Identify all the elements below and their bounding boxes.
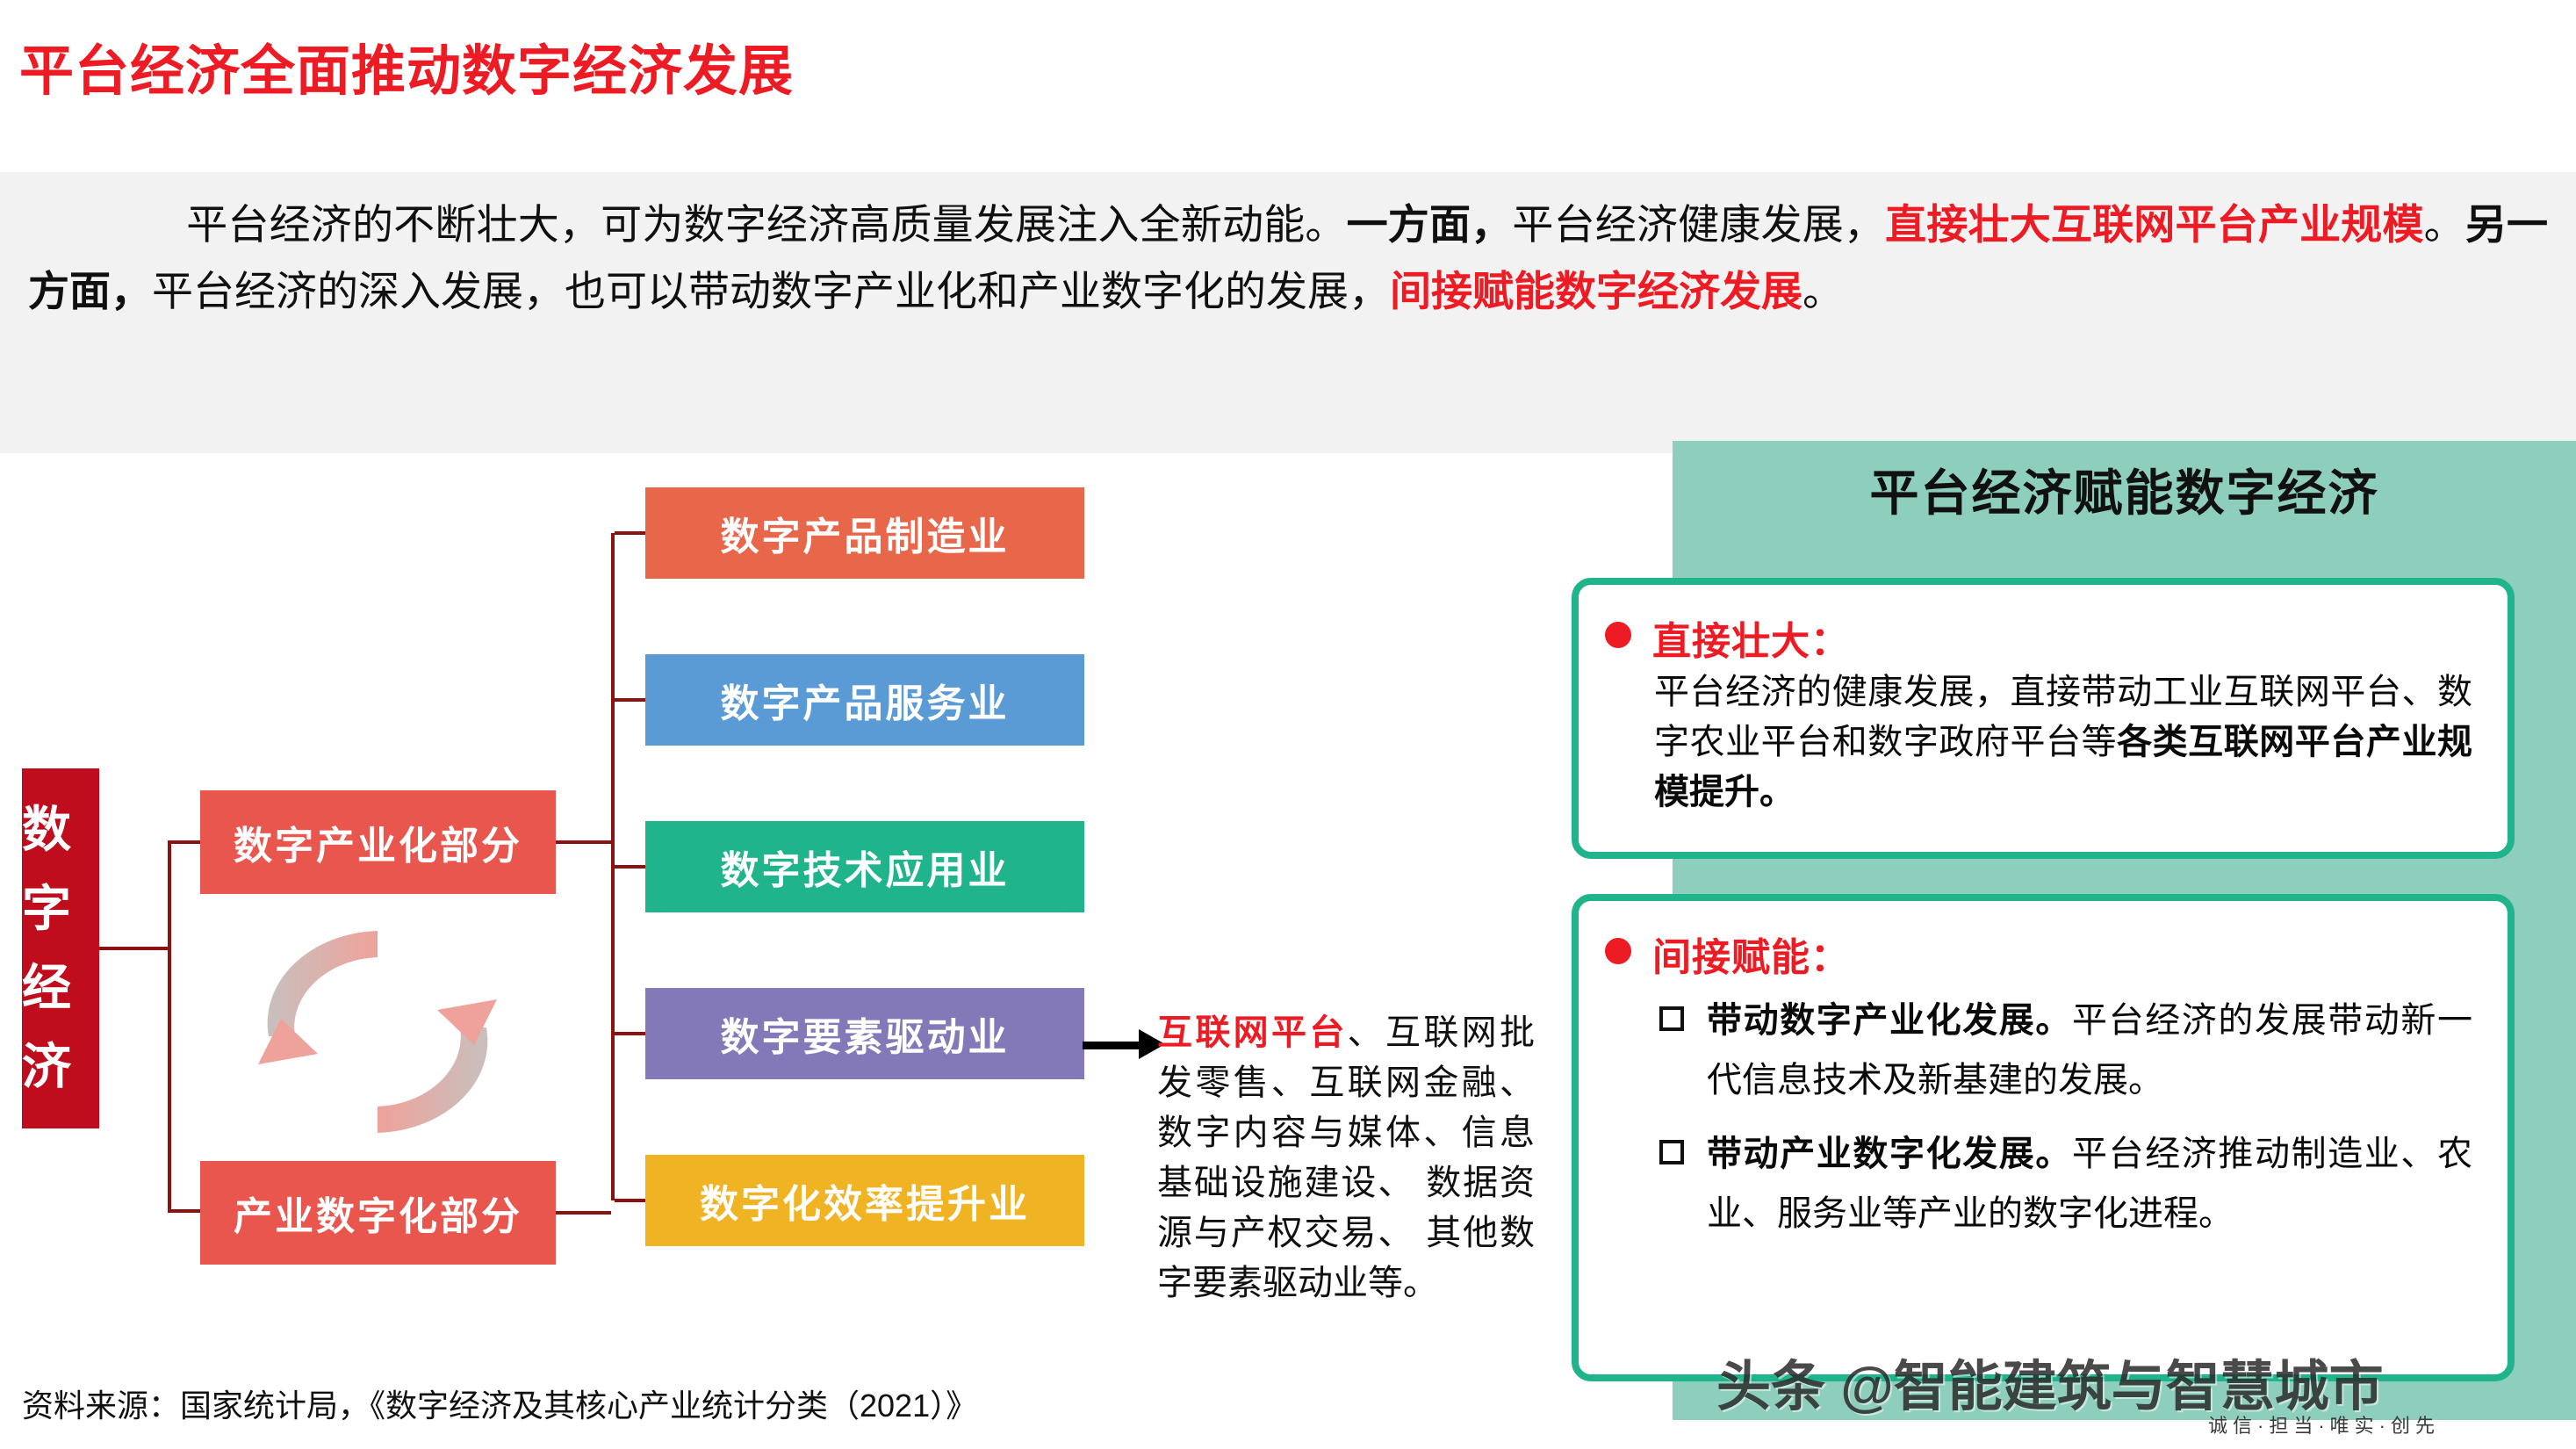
intro-bold-1: 一方面， [1347,201,1513,248]
intro-segment-4: 平台经济的深入发展，也可以带动数字产业化和产业数字化的发展， [152,268,1390,314]
diagram-root-label: 数字经济 [22,790,99,1107]
sector-label: 数字产品服务业 [721,672,1010,728]
connector-stub-5 [615,1199,646,1202]
category-label: 数字产业化部分 [234,814,522,870]
connector-stub-4 [615,1032,646,1035]
card-direct-body: 平台经济的健康发展，直接带动工业互联网平台、数字农业平台和数字政府平台等各类互联… [1579,666,2508,818]
card-indirect-heading: 间接赋能： [1652,926,1850,982]
list-item: 带动产业数字化发展。平台经济推动制造业、农业、服务业等产业的数字化进程。 [1659,1124,2472,1244]
intro-red-1: 直接壮大互联网平台产业规模 [1885,201,2424,248]
detail-highlight: 互联网平台 [1157,1013,1348,1052]
sector-label: 数字产品制造业 [721,505,1010,561]
sector-digital-element-driven: 数字要素驱动业 [645,988,1084,1079]
connector-category1-to-spine [556,840,611,844]
square-bullet-icon [1659,1006,1684,1031]
category-industry-digitalization: 产业数字化部分 [200,1161,556,1265]
intro-segment-3: 。 [2424,201,2465,248]
category-digital-industrialization: 数字产业化部分 [200,790,556,894]
source-note: 资料来源：国家统计局，《数字经济及其核心产业统计分类（2021）》 [22,1381,977,1426]
card-indirect-enablement: 间接赋能： 带动数字产业化发展。平台经济的发展带动新一代信息技术及新基建的发展。… [1572,894,2515,1381]
sector-detail-text: 互联网平台、互联网批发零售、互联网金融、数字内容与媒体、信息基础设施建设、 数据… [1157,1008,1535,1308]
intro-paragraph: 平台经济的不断壮大，可为数字经济高质量发展注入全新动能。一方面，平台经济健康发展… [0,172,2576,453]
detail-rest: 、互联网批发零售、互联网金融、数字内容与媒体、信息基础设施建设、 数据资源与产权… [1157,1013,1535,1302]
intro-segment-1: 平台经济的不断壮大，可为数字经济高质量发展注入全新动能。 [186,201,1347,248]
sector-digital-product-manufacturing: 数字产品制造业 [645,487,1084,579]
card-direct-growth: 直接壮大： 平台经济的健康发展，直接带动工业互联网平台、数字农业平台和数字政府平… [1572,578,2515,859]
sector-digitalization-efficiency: 数字化效率提升业 [645,1155,1084,1246]
connector-stub-2 [615,698,646,702]
sector-label: 数字化效率提升业 [700,1172,1030,1229]
sector-digital-product-service: 数字产品服务业 [645,654,1084,746]
sub-item-text: 带动产业数字化发展。平台经济推动制造业、农业、服务业等产业的数字化进程。 [1707,1124,2472,1244]
sector-label: 数字技术应用业 [721,839,1010,895]
sector-digital-technology-application: 数字技术应用业 [645,821,1084,912]
slide-root: 平台经济全面推动数字经济发展 平台经济的不断壮大，可为数字经济高质量发展注入全新… [0,0,2576,1449]
enabling-panel-title: 平台经济赋能数字经济 [1673,454,2576,525]
card-direct-heading-row: 直接壮大： [1579,585,2508,666]
intro-segment-2: 平台经济健康发展， [1512,201,1885,248]
intro-red-2: 间接赋能数字经济发展 [1390,268,1802,314]
sector-label: 数字要素驱动业 [721,1006,1010,1062]
bullet-dot-icon [1605,622,1631,648]
page-title: 平台经济全面推动数字经济发展 [19,26,794,105]
connector-stub-3 [615,865,646,869]
connector-category2-to-spine [556,1211,611,1215]
connector-stub-1 [615,531,646,535]
connector-branch-top [168,840,203,844]
sub-item-text: 带动数字产业化发展。平台经济的发展带动新一代信息技术及新基建的发展。 [1707,991,2472,1110]
square-bullet-icon [1659,1140,1684,1164]
card-indirect-heading-row: 间接赋能： [1579,901,2508,982]
intro-segment-5: 。 [1802,268,1844,314]
sub-item-bold: 带动数字产业化发展。 [1707,1001,2072,1040]
bullet-dot-icon [1605,938,1631,964]
watermark-text: 头条 @智能建筑与智慧城市 [1716,1342,2384,1421]
watermark-tagline: 诚信·担当·唯实·创先 [2208,1410,2440,1438]
card-direct-heading: 直接壮大： [1652,609,1850,666]
arrow-line [1083,1042,1144,1049]
category-label: 产业数字化部分 [234,1185,522,1241]
connector-branch-bottom [168,1209,203,1213]
diagram-root-digital-economy: 数字经济 [22,768,99,1128]
connector-root-horizontal [99,947,171,950]
card-indirect-sublist: 带动数字产业化发展。平台经济的发展带动新一代信息技术及新基建的发展。 带动产业数… [1579,982,2508,1244]
list-item: 带动数字产业化发展。平台经济的发展带动新一代信息技术及新基建的发展。 [1659,991,2472,1110]
cycle-arrows-icon [246,913,509,1150]
connector-root-vertical [168,840,171,1213]
sub-item-bold: 带动产业数字化发展。 [1707,1135,2072,1173]
